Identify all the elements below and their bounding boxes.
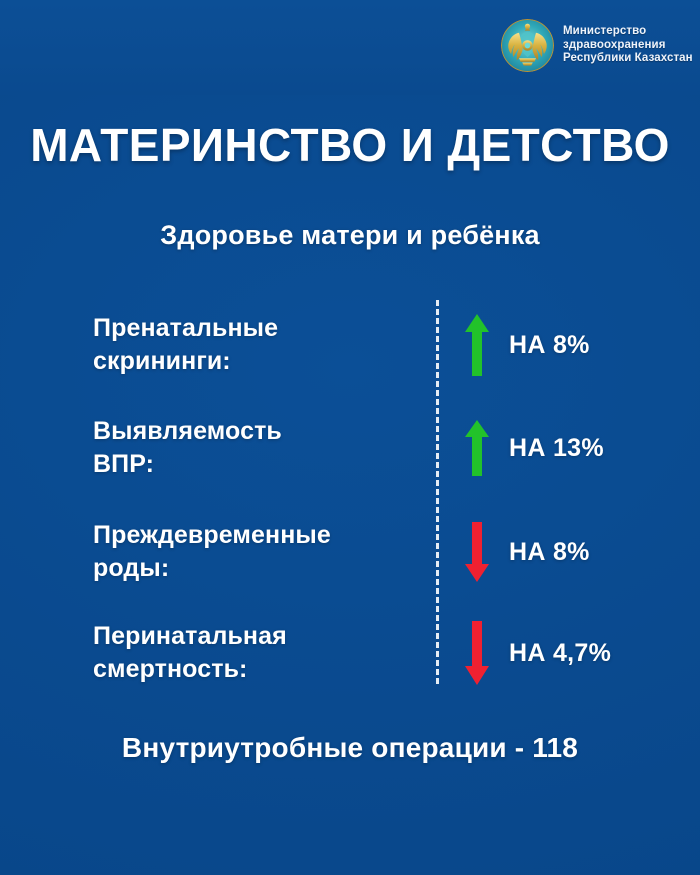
ministry-branding: Министерство здравоохранения Республики … [501,19,693,72]
metric-label-line-1: Выявляемость [93,415,423,448]
metric-trend-arrow [455,620,499,686]
ministry-name: Министерство здравоохранения Республики … [563,25,693,66]
metric-label-line-2: ВПР: [93,448,423,481]
metric-trend-arrow [455,419,499,477]
footer-note: Внутриутробные операции - 118 [0,732,700,764]
ministry-line-3: Республики Казахстан [563,52,693,66]
infographic-poster: Министерство здравоохранения Республики … [0,0,700,875]
metric-label-line-2: скрининги: [93,345,423,378]
ministry-line-1: Министерство [563,25,693,39]
metric-value: НА 4,7% [509,639,611,668]
metric-row: Преждевременные роды: НА 8% [0,503,700,601]
ministry-line-2: здравоохранения [563,39,693,53]
metric-label: Перинатальная смертность: [93,620,423,686]
metric-value: НА 8% [509,331,590,360]
arrow-down-icon [464,521,490,583]
metric-trend-arrow [455,313,499,377]
metric-label-line-2: смертность: [93,653,423,686]
metric-label-line-2: роды: [93,552,423,585]
metric-label-line-1: Пренатальные [93,312,423,345]
arrow-up-icon [464,313,490,377]
metrics-list: Пренатальные скрининги: НА 8% Выявляемос… [0,296,700,688]
arrow-up-icon [464,419,490,477]
page-title: МАТЕРИНСТВО И ДЕТСТВО [0,118,700,172]
kazakhstan-emblem-icon [501,19,554,72]
metric-row: Выявляемость ВПР: НА 13% [0,399,700,497]
metric-label: Преждевременные роды: [93,519,423,585]
metric-row: Пренатальные скрининги: НА 8% [0,296,700,394]
metric-label: Выявляемость ВПР: [93,415,423,481]
metric-row: Перинатальная смертность: НА 4,7% [0,604,700,702]
metric-label: Пренатальные скрининги: [93,312,423,378]
metric-value: НА 8% [509,538,590,567]
metric-trend-arrow [455,521,499,583]
page-subtitle: Здоровье матери и ребёнка [0,220,700,251]
metric-value: НА 13% [509,434,604,463]
metric-label-line-1: Преждевременные [93,519,423,552]
metric-label-line-1: Перинатальная [93,620,423,653]
arrow-down-icon [464,620,490,686]
